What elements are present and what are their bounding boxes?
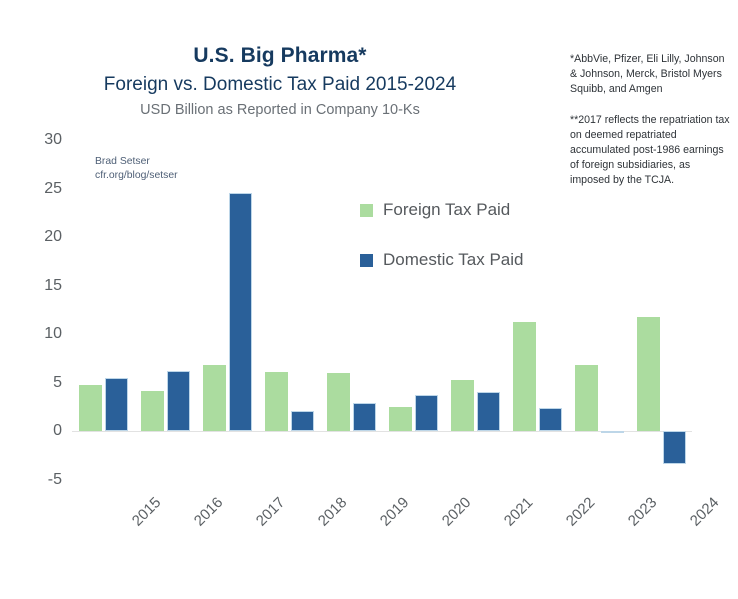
bar-foreign-2019 (327, 373, 350, 431)
bar-foreign-2024 (637, 317, 660, 432)
page-title: U.S. Big Pharma* (0, 44, 560, 68)
bar-group (327, 140, 376, 480)
bar-domestic-2023 (601, 431, 624, 433)
bars-container (72, 140, 692, 480)
bar-domestic-2017 (229, 193, 252, 431)
y-axis-tick-label: 20 (44, 228, 62, 246)
bar-group (389, 140, 438, 480)
bar-foreign-2020 (389, 407, 412, 431)
bar-domestic-2022 (539, 408, 562, 431)
x-axis-tick-label: 2022 (563, 494, 599, 530)
y-axis-tick-label: 15 (44, 277, 62, 295)
bar-group (203, 140, 252, 480)
x-axis-tick-label: 2019 (377, 494, 413, 530)
bar-domestic-2024 (663, 431, 686, 464)
y-axis-tick-label: 10 (44, 325, 62, 343)
bar-group (79, 140, 128, 480)
bar-domestic-2021 (477, 392, 500, 432)
x-axis-tick-label: 2016 (191, 494, 227, 530)
bar-group (451, 140, 500, 480)
x-axis-tick-label: 2018 (315, 494, 351, 530)
bar-foreign-2022 (513, 322, 536, 432)
x-axis-tick-label: 2024 (687, 494, 723, 530)
bar-group (637, 140, 686, 480)
bar-foreign-2018 (265, 372, 288, 431)
bar-foreign-2021 (451, 380, 474, 431)
bar-domestic-2015 (105, 378, 128, 431)
bar-foreign-2015 (79, 385, 102, 432)
bar-foreign-2016 (141, 391, 164, 432)
title-block: U.S. Big Pharma* Foreign vs. Domestic Ta… (0, 44, 560, 119)
bar-domestic-2016 (167, 371, 190, 431)
footnote-companies: *AbbVie, Pfizer, Eli Lilly, Johnson & Jo… (570, 52, 732, 97)
page-units-label: USD Billion as Reported in Company 10-Ks (0, 102, 560, 119)
bar-domestic-2020 (415, 395, 438, 431)
chart-page: U.S. Big Pharma* Foreign vs. Domestic Ta… (0, 0, 738, 599)
y-axis-tick-label: 5 (53, 374, 62, 392)
x-axis-tick-label: 2017 (253, 494, 289, 530)
plot-area: 302520151050-520152016201720182019202020… (72, 140, 692, 480)
bar-domestic-2019 (353, 403, 376, 431)
y-axis-tick-label: 0 (53, 422, 62, 440)
x-axis-tick-label: 2020 (439, 494, 475, 530)
bar-group (141, 140, 190, 480)
bar-group (265, 140, 314, 480)
bar-group (575, 140, 624, 480)
y-axis-tick-label: 25 (44, 180, 62, 198)
y-axis-tick-label: 30 (44, 131, 62, 149)
x-axis-tick-label: 2015 (129, 494, 165, 530)
bar-foreign-2017 (203, 365, 226, 431)
bar-domestic-2018 (291, 411, 314, 431)
bar-group (513, 140, 562, 480)
y-axis-tick-label: -5 (48, 471, 62, 489)
page-subtitle: Foreign vs. Domestic Tax Paid 2015-2024 (0, 74, 560, 96)
bar-foreign-2023 (575, 365, 598, 431)
x-axis-tick-label: 2023 (625, 494, 661, 530)
x-axis-tick-label: 2021 (501, 494, 537, 530)
